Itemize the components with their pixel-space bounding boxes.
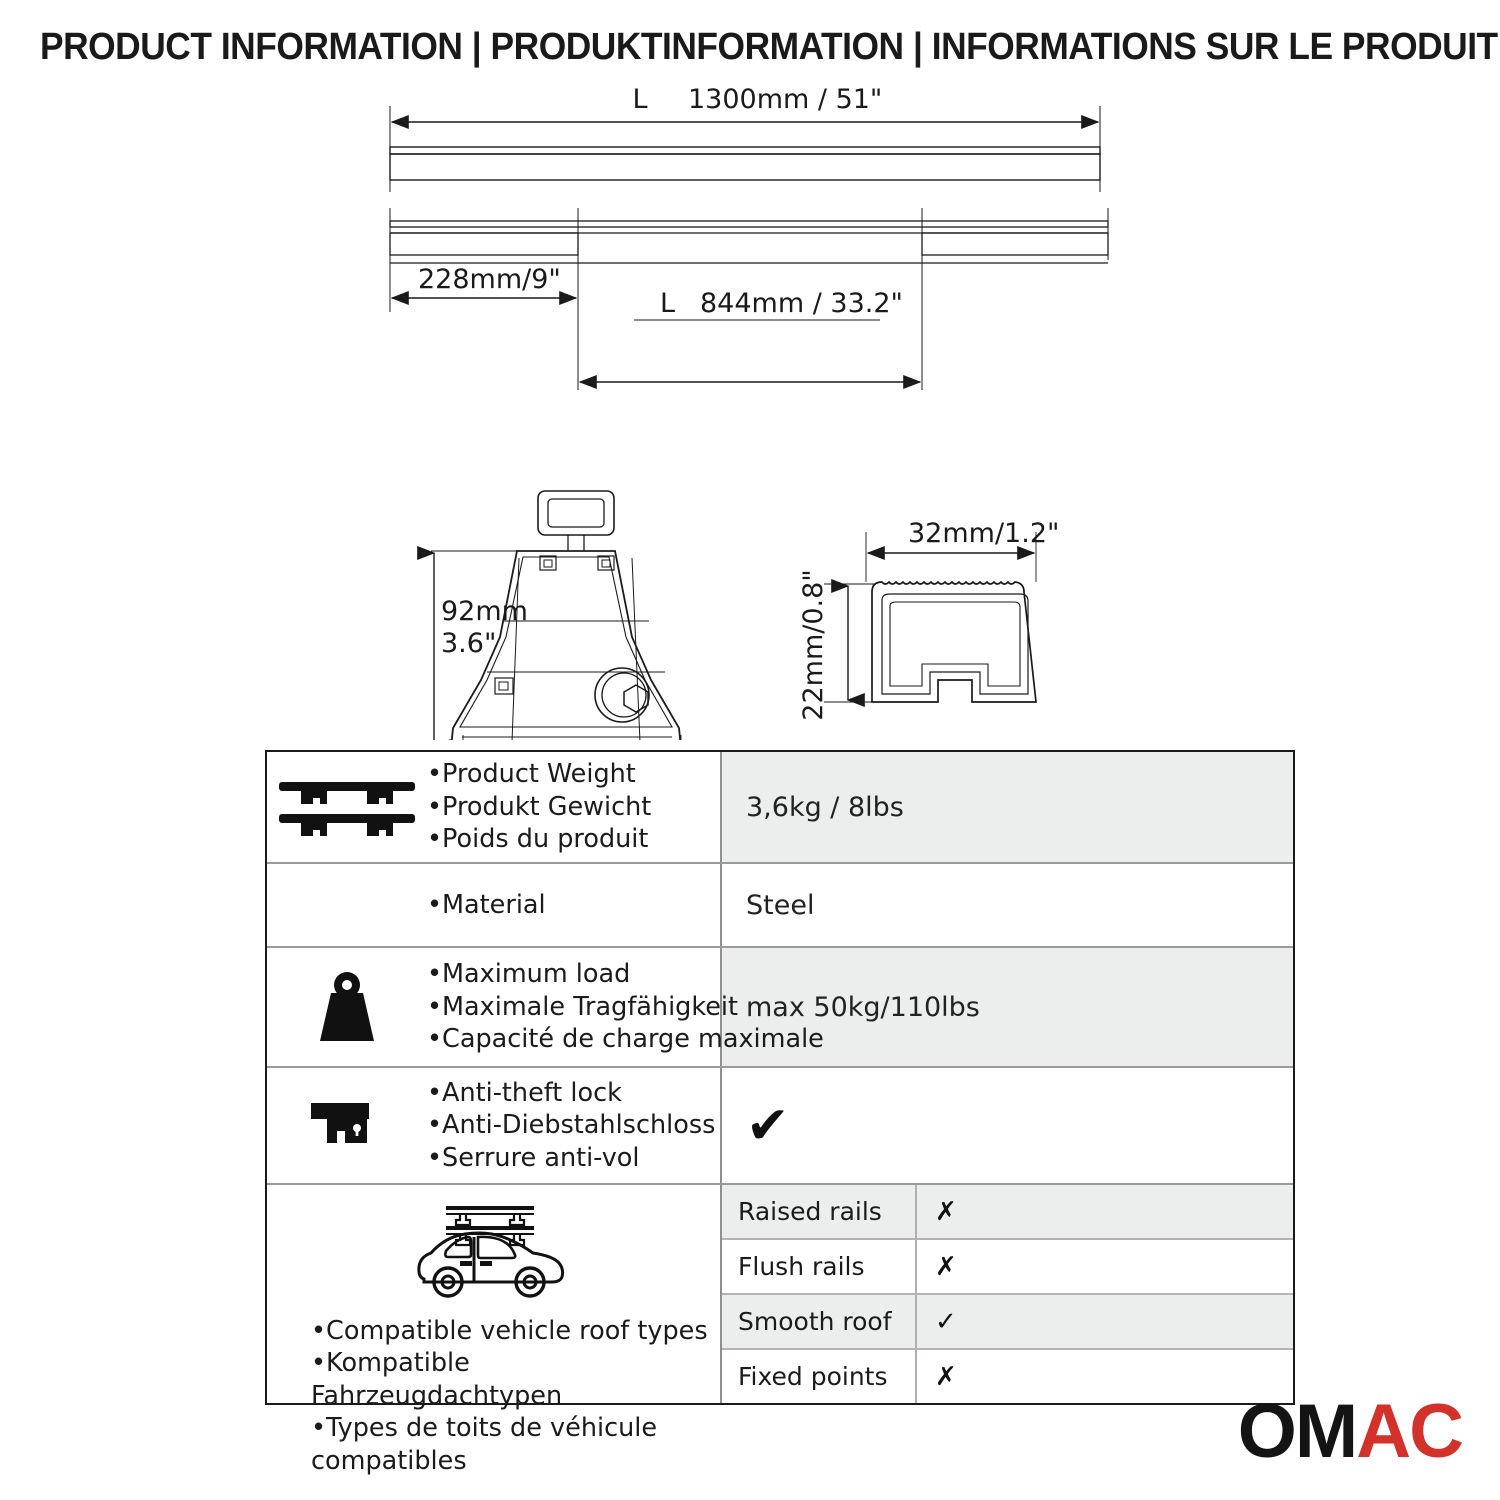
weight-icon — [267, 969, 427, 1045]
dim-profile-width-label: 32mm/1.2" — [908, 518, 1059, 549]
roof-option-fixed-points: Fixed points ✗ — [722, 1350, 1293, 1403]
roof-types-label-cell: •Compatible vehicle roof types •Kompatib… — [267, 1185, 722, 1403]
roof-option-raised-rails: Raised rails ✗ — [722, 1185, 1293, 1240]
dim-profile-height-label: 22mm/0.8" — [798, 569, 829, 720]
roof-option-name: Flush rails — [722, 1240, 917, 1293]
table-row-product-weight: •Product Weight •Produkt Gewicht •Poids … — [267, 752, 1293, 864]
lock-icon — [267, 1097, 427, 1155]
row-value-material: Steel — [722, 864, 1293, 946]
label-line: •Material — [427, 889, 546, 922]
label-line: •Produkt Gewicht — [427, 791, 651, 824]
dim-foot-offset-label: 228mm/9" — [418, 264, 561, 295]
omac-logo: OM AC — [1238, 1394, 1462, 1470]
logo-text-dark: OM — [1238, 1394, 1356, 1470]
table-row-material: •Material Steel — [267, 864, 1293, 948]
row-label-maximum-load: •Maximum load •Maximale Tragfähigkeit •C… — [267, 948, 722, 1066]
label-line: compatibles — [311, 1445, 720, 1477]
roof-option-name: Raised rails — [722, 1185, 917, 1238]
label-line: •Product Weight — [427, 758, 651, 791]
roof-option-mark-cross-icon: ✗ — [917, 1185, 1293, 1238]
dim-span-label: 844mm / 33.2" — [700, 288, 903, 319]
technical-drawing: L 1300mm / 51" 228mm/9" L 844mm / 33.2" … — [0, 80, 1500, 740]
row-label-text-anti-theft-lock: •Anti-theft lock •Anti-Diebstahlschloss … — [427, 1077, 719, 1175]
row-value-anti-theft-lock: ✔ — [722, 1068, 1293, 1183]
table-row-maximum-load: •Maximum load •Maximale Tragfähigkeit •C… — [267, 948, 1293, 1068]
roof-option-smooth-roof: Smooth roof ✓ — [722, 1295, 1293, 1350]
label-line: •Maximale Tragfähigkeit — [427, 991, 824, 1024]
checkmark-icon: ✔ — [746, 1100, 790, 1152]
row-label-text-material: •Material — [427, 889, 550, 922]
row-value-product-weight: 3,6kg / 8lbs — [722, 752, 1293, 862]
roof-option-mark-check-icon: ✓ — [917, 1295, 1293, 1348]
roof-types-options: Raised rails ✗ Flush rails ✗ Smooth roof… — [722, 1185, 1293, 1403]
dim-overall-prefix: L — [632, 84, 647, 115]
dim-span-prefix: L — [660, 288, 675, 319]
label-line: •Serrure anti-vol — [427, 1142, 715, 1175]
row-label-product-weight: •Product Weight •Produkt Gewicht •Poids … — [267, 752, 722, 862]
row-label-text-maximum-load: •Maximum load •Maximale Tragfähigkeit •C… — [427, 958, 828, 1056]
label-line: •Types de toits de véhicule — [311, 1412, 720, 1444]
page-title: PRODUCT INFORMATION | PRODUKTINFORMATION… — [40, 26, 1361, 69]
label-line: •Kompatible Fahrzeugdachtypen — [311, 1347, 720, 1412]
table-row-anti-theft-lock: •Anti-theft lock •Anti-Diebstahlschloss … — [267, 1068, 1293, 1185]
row-label-anti-theft-lock: •Anti-theft lock •Anti-Diebstahlschloss … — [267, 1068, 722, 1183]
roof-option-mark-cross-icon: ✗ — [917, 1240, 1293, 1293]
label-line: •Capacité de charge maximale — [427, 1023, 824, 1056]
label-line: •Maximum load — [427, 958, 824, 991]
dim-height-label-2: 3.6" — [441, 628, 496, 659]
specification-table: •Product Weight •Produkt Gewicht •Poids … — [265, 750, 1295, 1405]
dim-height-label-1: 92mm — [441, 596, 528, 627]
label-line: •Anti-Diebstahlschloss — [427, 1109, 715, 1142]
row-label-material: •Material — [267, 864, 722, 946]
roof-bars-icon — [267, 776, 427, 838]
label-line: •Anti-theft lock — [427, 1077, 715, 1110]
car-with-roof-rack-icon — [404, 1199, 584, 1307]
dim-overall-label: 1300mm / 51" — [688, 84, 882, 115]
row-label-text-product-weight: •Product Weight •Produkt Gewicht •Poids … — [427, 758, 655, 856]
roof-option-name: Fixed points — [722, 1350, 917, 1403]
roof-types-caption: •Compatible vehicle roof types •Kompatib… — [267, 1315, 720, 1477]
table-row-roof-types: •Compatible vehicle roof types •Kompatib… — [267, 1185, 1293, 1403]
roof-option-mark-cross-icon: ✗ — [917, 1350, 1293, 1403]
roof-option-name: Smooth roof — [722, 1295, 917, 1348]
label-line: •Poids du produit — [427, 823, 651, 856]
drawing-svg: L 1300mm / 51" 228mm/9" L 844mm / 33.2" … — [0, 80, 1500, 740]
roof-option-flush-rails: Flush rails ✗ — [722, 1240, 1293, 1295]
label-line: •Compatible vehicle roof types — [311, 1315, 720, 1347]
logo-text-red: AC — [1356, 1394, 1462, 1470]
